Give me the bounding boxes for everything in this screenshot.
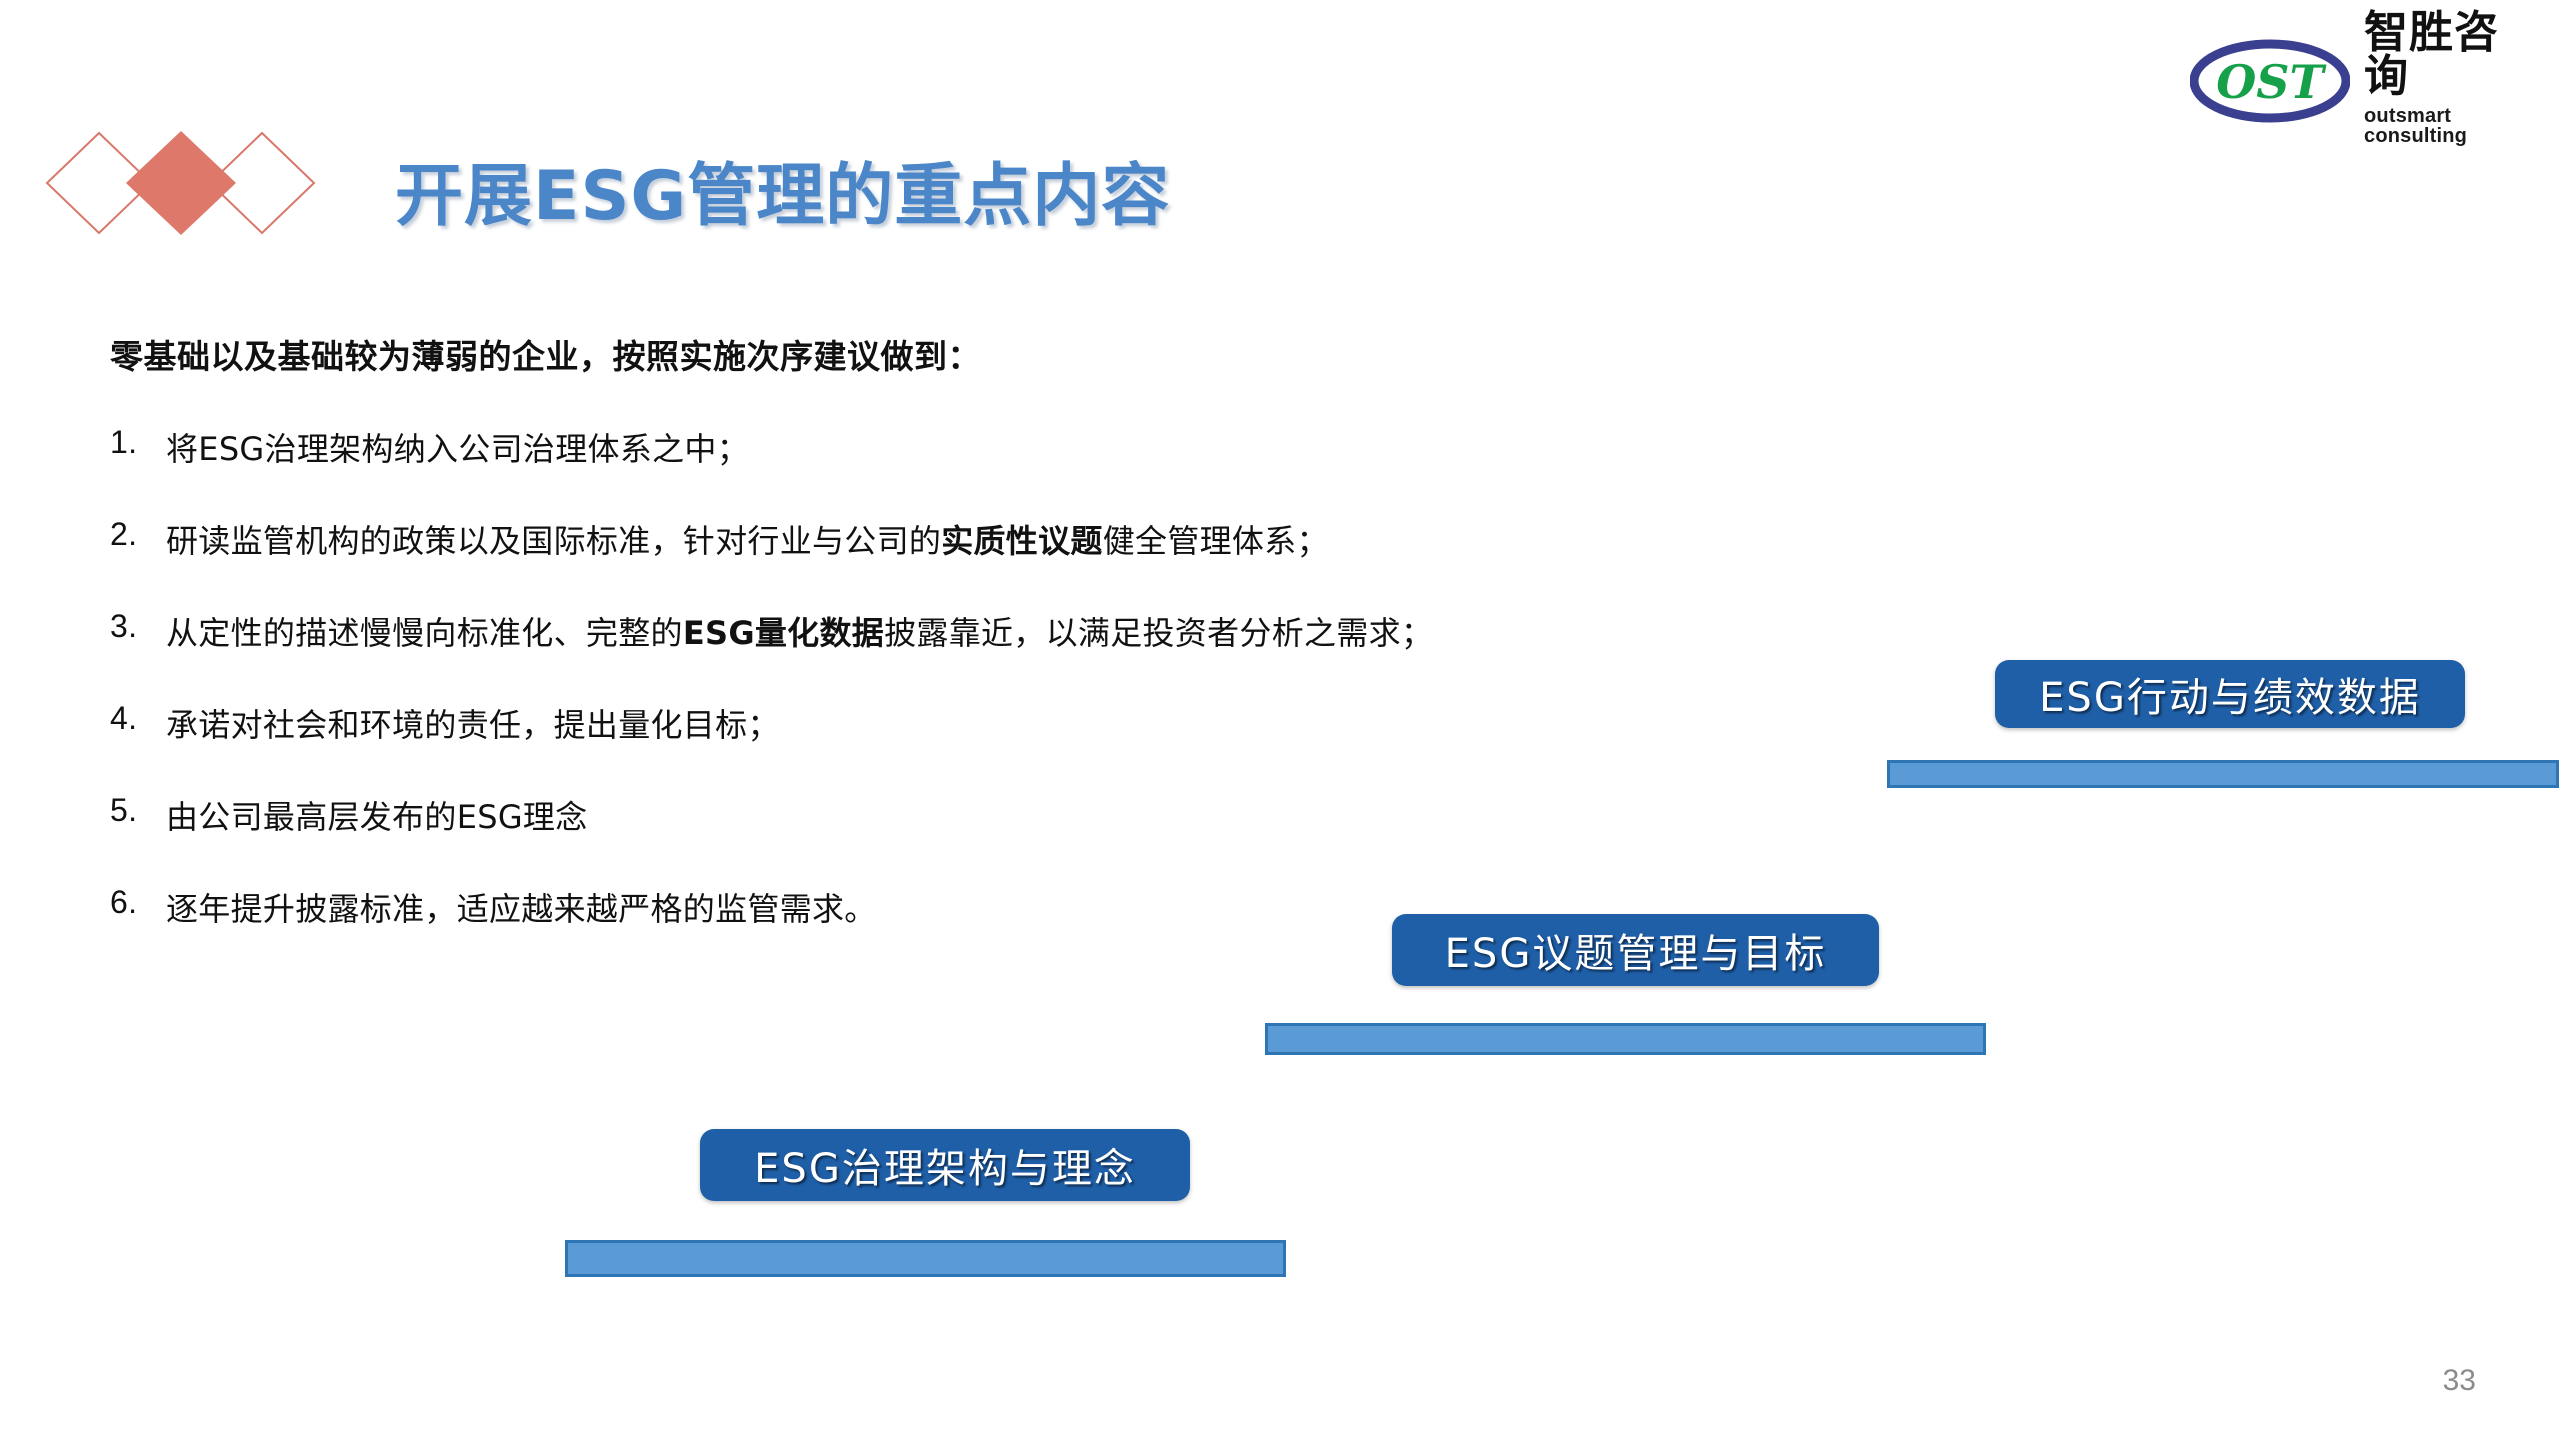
diamond-decoration-icon: [44, 128, 394, 238]
step-bar-level-3[interactable]: [1887, 760, 2559, 788]
list-item-text: 研读监管机构的政策以及国际标准，针对行业与公司的实质性议题健全管理体系；: [166, 516, 1329, 562]
company-logo: OST 智胜咨询 outsmart consulting: [2190, 28, 2540, 133]
ost-wordmark: OST: [2216, 55, 2327, 109]
list-item-number: 1.: [110, 424, 166, 461]
step-label-esg-governance-philosophy[interactable]: ESG治理架构与理念: [700, 1129, 1190, 1201]
text-pre: 研读监管机构的政策以及国际标准，针对行业与公司的: [166, 522, 941, 560]
text-pre: 逐年提升披露标准，适应越来越严格的监管需求。: [166, 890, 877, 928]
list-item-text: 由公司最高层发布的ESG理念: [166, 792, 588, 838]
text-post: 披露靠近，以满足投资者分析之需求；: [884, 614, 1433, 652]
logo-company-en: outsmart consulting: [2364, 106, 2540, 146]
body-content: 零基础以及基础较为薄弱的企业，按照实施次序建议做到： 1. 将ESG治理架构纳入…: [110, 330, 1810, 976]
list-item: 3. 从定性的描述慢慢向标准化、完整的ESG量化数据披露靠近，以满足投资者分析之…: [110, 608, 1810, 654]
step-bar-level-1[interactable]: [565, 1240, 1286, 1277]
list-item: 1. 将ESG治理架构纳入公司治理体系之中；: [110, 424, 1810, 470]
list-item-text: 将ESG治理架构纳入公司治理体系之中；: [166, 424, 749, 470]
list-item-text: 承诺对社会和环境的责任，提出量化目标；: [166, 700, 780, 746]
list-item-number: 2.: [110, 516, 166, 553]
step-bar-level-2[interactable]: [1265, 1023, 1986, 1055]
list-item-number: 3.: [110, 608, 166, 645]
numbered-list: 1. 将ESG治理架构纳入公司治理体系之中； 2. 研读监管机构的政策以及国际标…: [110, 424, 1810, 930]
text-pre: 承诺对社会和环境的责任，提出量化目标；: [166, 706, 780, 744]
lead-paragraph: 零基础以及基础较为薄弱的企业，按照实施次序建议做到：: [110, 330, 1810, 378]
text-pre: 由公司最高层发布的ESG理念: [166, 798, 588, 836]
ost-ellipse-logo-icon: OST: [2190, 38, 2350, 124]
list-item-text: 逐年提升披露标准，适应越来越严格的监管需求。: [166, 884, 877, 930]
page-title: 开展ESG管理的重点内容: [395, 140, 1170, 239]
list-item: 5. 由公司最高层发布的ESG理念: [110, 792, 1810, 838]
text-pre: 从定性的描述慢慢向标准化、完整的: [166, 614, 683, 652]
slide-canvas: OST 智胜咨询 outsmart consulting 开展ESG管理的重点内…: [0, 0, 2560, 1440]
text-bold: ESG量化数据: [683, 614, 884, 652]
list-item-number: 6.: [110, 884, 166, 921]
page-number: 33: [2443, 1364, 2476, 1398]
text-pre: 将ESG治理架构纳入公司治理体系之中；: [166, 430, 749, 468]
list-item: 2. 研读监管机构的政策以及国际标准，针对行业与公司的实质性议题健全管理体系；: [110, 516, 1810, 562]
step-label-esg-topic-management[interactable]: ESG议题管理与目标: [1392, 914, 1879, 986]
list-item-number: 5.: [110, 792, 166, 829]
text-post: 健全管理体系；: [1103, 522, 1329, 560]
logo-company-cn: 智胜咨询: [2364, 11, 2540, 99]
step-label-esg-action-performance[interactable]: ESG行动与绩效数据: [1995, 660, 2465, 728]
list-item-number: 4.: [110, 700, 166, 737]
text-bold: 实质性议题: [941, 522, 1103, 560]
list-item-text: 从定性的描述慢慢向标准化、完整的ESG量化数据披露靠近，以满足投资者分析之需求；: [166, 608, 1433, 654]
list-item: 4. 承诺对社会和环境的责任，提出量化目标；: [110, 700, 1810, 746]
logo-text-block: 智胜咨询 outsmart consulting: [2364, 11, 2540, 150]
